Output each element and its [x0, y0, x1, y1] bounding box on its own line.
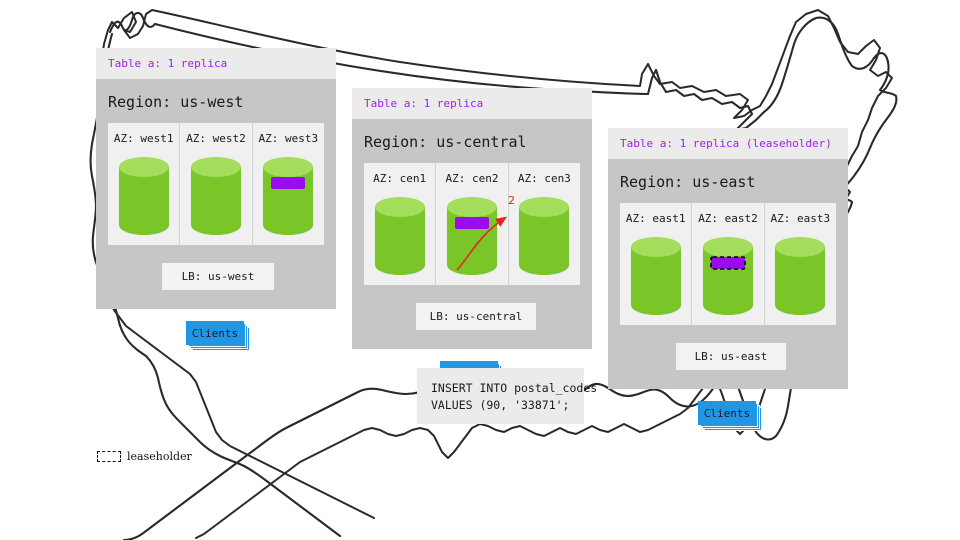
region-title-us-central: Region: us-central: [352, 119, 592, 163]
az-cell-west3[interactable]: AZ: west3: [253, 123, 324, 245]
region-panel-us-west: Table a: 1 replica Region: us-west AZ: w…: [96, 48, 336, 309]
region-header-us-west: Table a: 1 replica: [96, 48, 336, 79]
node-cylinder-cen1[interactable]: [373, 193, 427, 279]
lb-box-us-central[interactable]: LB: us-central: [416, 303, 536, 330]
dashed-rect-icon: [97, 451, 121, 462]
arrow-step-label: 2: [508, 194, 515, 207]
region-header-us-central: Table a: 1 replica: [352, 88, 592, 119]
legend: leaseholder: [97, 450, 192, 463]
node-cylinder-cen2[interactable]: [445, 193, 499, 279]
sql-statement-box: INSERT INTO postal_codes VALUES (90, '33…: [417, 368, 584, 424]
az-cell-west2[interactable]: AZ: west2: [180, 123, 252, 245]
region-title-us-west: Region: us-west: [96, 79, 336, 123]
az-label-cen1: AZ: cen1: [373, 172, 426, 185]
legend-label: leaseholder: [127, 450, 192, 463]
clients-label-us-west[interactable]: Clients: [186, 321, 244, 345]
node-cylinder-cen3[interactable]: [517, 193, 571, 279]
node-cylinder-west1[interactable]: [117, 153, 171, 239]
az-cell-east3[interactable]: AZ: east3: [765, 203, 836, 325]
replica-block-west3: [271, 177, 305, 189]
node-cylinder-east1[interactable]: [629, 233, 683, 319]
region-panel-us-central: Table a: 1 replica Region: us-central AZ…: [352, 88, 592, 349]
region-panel-us-east: Table a: 1 replica (leaseholder) Region:…: [608, 128, 848, 389]
az-label-cen2: AZ: cen2: [446, 172, 499, 185]
az-cell-cen2[interactable]: AZ: cen2: [436, 163, 508, 285]
az-label-cen3: AZ: cen3: [518, 172, 571, 185]
diagram-canvas: Table a: 1 replica Region: us-west AZ: w…: [0, 0, 960, 540]
lb-box-us-east[interactable]: LB: us-east: [676, 343, 786, 370]
az-label-west3: AZ: west3: [259, 132, 319, 145]
clients-button-us-west[interactable]: Clients: [186, 321, 244, 345]
az-cell-east1[interactable]: AZ: east1: [620, 203, 692, 325]
node-cylinder-west3[interactable]: [261, 153, 315, 239]
az-label-west1: AZ: west1: [114, 132, 174, 145]
az-cell-west1[interactable]: AZ: west1: [108, 123, 180, 245]
az-cell-cen3[interactable]: AZ: cen3: [509, 163, 580, 285]
node-cylinder-east2[interactable]: [701, 233, 755, 319]
clients-button-us-east[interactable]: Clients: [698, 401, 756, 425]
node-cylinder-west2[interactable]: [189, 153, 243, 239]
region-header-us-east: Table a: 1 replica (leaseholder): [608, 128, 848, 159]
az-cell-cen1[interactable]: AZ: cen1: [364, 163, 436, 285]
az-cell-east2[interactable]: AZ: east2: [692, 203, 764, 325]
az-label-east2: AZ: east2: [698, 212, 758, 225]
az-row-us-central: AZ: cen1 AZ: cen2: [364, 163, 580, 285]
az-label-west2: AZ: west2: [186, 132, 246, 145]
az-label-east1: AZ: east1: [626, 212, 686, 225]
node-cylinder-east3[interactable]: [773, 233, 827, 319]
replica-block-cen2: [455, 217, 489, 229]
az-row-us-west: AZ: west1 AZ: west2: [108, 123, 324, 245]
lb-box-us-west[interactable]: LB: us-west: [162, 263, 274, 290]
region-title-us-east: Region: us-east: [608, 159, 848, 203]
az-label-east3: AZ: east3: [771, 212, 831, 225]
replica-block-east2-leaseholder: [711, 257, 745, 269]
clients-label-us-east[interactable]: Clients: [698, 401, 756, 425]
az-row-us-east: AZ: east1 AZ: east2: [620, 203, 836, 325]
